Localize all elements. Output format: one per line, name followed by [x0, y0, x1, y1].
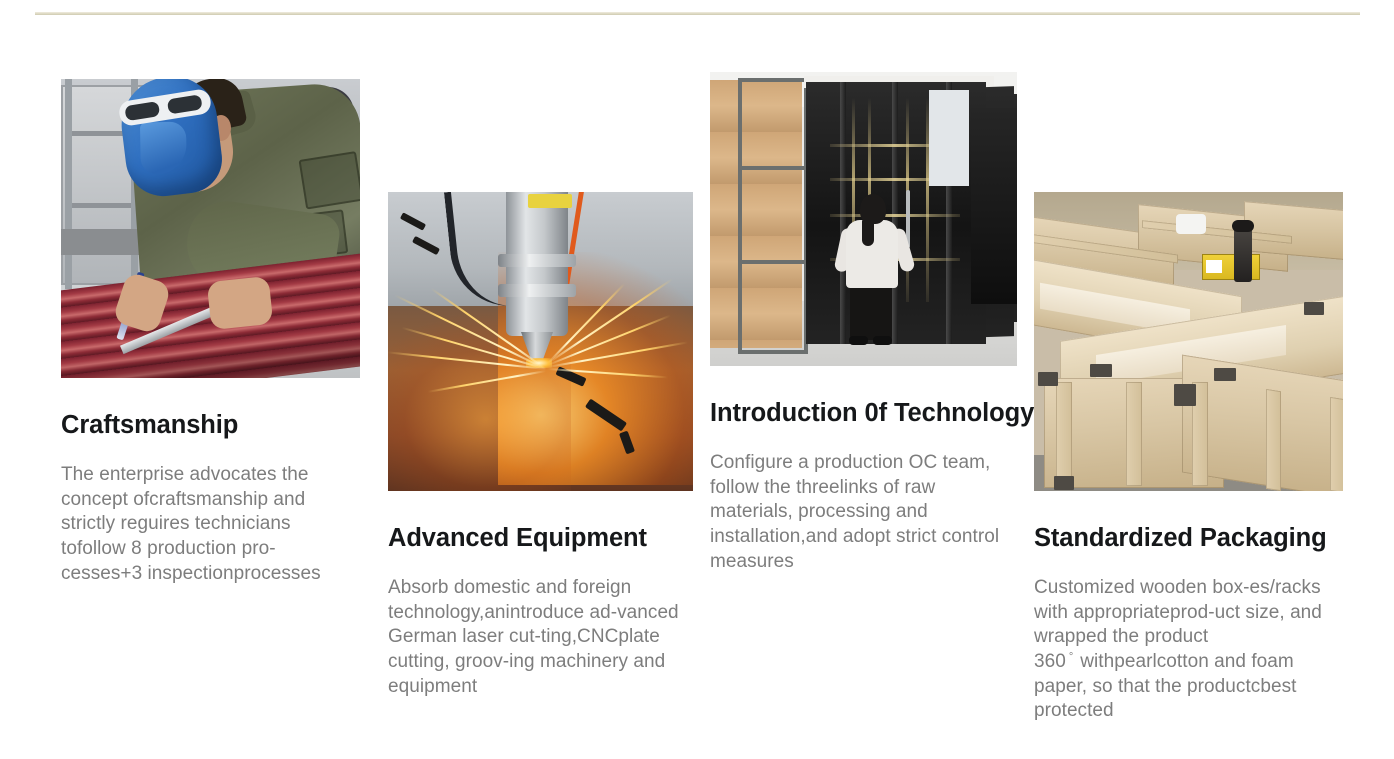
dark-display-cabinet [971, 108, 1017, 304]
feature-card-introduction-of-technology: Introduction 0f Technology Configure a p… [710, 72, 1018, 574]
tool-case-label [1206, 260, 1222, 273]
yellow-warning-label [528, 194, 572, 208]
crate-slat [1266, 389, 1281, 491]
worker-hand-right [207, 276, 274, 330]
hand-tool [1234, 226, 1252, 282]
standardized-packaging-photo [1034, 192, 1343, 491]
crate-slat [1330, 397, 1343, 491]
visitor-shoe-left [849, 336, 868, 345]
visitor-head [860, 194, 886, 224]
feature-card-advanced-equipment: Advanced Equipment Absorb domestic and f… [388, 192, 694, 699]
display-shelf [830, 214, 960, 217]
feature-card-standardized-packaging: Standardized Packaging Customized wooden… [1034, 192, 1344, 724]
feature-body-craftsmanship: The enterprise advocates the concept ofc… [61, 463, 351, 586]
corner-bracket [1174, 384, 1196, 406]
jacket-pocket-upper [299, 151, 360, 209]
laser-head-ring-upper [498, 254, 576, 267]
mask-nose-facet [140, 122, 187, 175]
crate-back [1244, 201, 1343, 261]
corner-bracket [1038, 372, 1058, 386]
feature-title-craftsmanship: Craftsmanship [61, 411, 361, 439]
white-wrapped-bundle [1176, 214, 1206, 234]
feature-body-advanced-equipment: Absorb domestic and foreign technology,a… [388, 576, 688, 699]
hand-tool-knob [1232, 220, 1254, 232]
corner-bracket [1090, 364, 1112, 377]
feature-title-standardized-packaging: Standardized Packaging [1034, 524, 1344, 552]
feature-body-standardized-packaging: Customized wooden box-es/racks with appr… [1034, 576, 1344, 724]
introduction-of-technology-photo [710, 72, 1017, 366]
feature-body-introduction-of-technology: Configure a production OC team, follow t… [710, 451, 1010, 574]
rack-post-left [65, 79, 72, 289]
visitor-trousers [850, 282, 892, 340]
corner-bracket [1304, 302, 1324, 315]
visitor-shoe-right [873, 336, 892, 345]
corner-bracket [1214, 368, 1236, 381]
corner-bracket [1054, 476, 1074, 490]
door-mullion [840, 82, 846, 344]
degree-symbol: ° [1066, 651, 1080, 663]
sheet-shadow [61, 324, 360, 378]
header-divider [35, 12, 1360, 15]
laser-head-ring-lower [498, 284, 576, 297]
advanced-equipment-photo [388, 192, 693, 491]
feature-title-advanced-equipment: Advanced Equipment [388, 524, 694, 552]
craftsmanship-photo [61, 79, 360, 378]
crate-slat [1056, 382, 1072, 486]
wall-panel [929, 90, 969, 186]
feature-card-craftsmanship: Craftsmanship The enterprise advocates t… [61, 79, 361, 586]
crate-metal-frame [738, 78, 808, 354]
door-mullion [892, 82, 898, 344]
crate-slat [1126, 382, 1142, 486]
feature-title-introduction-of-technology: Introduction 0f Technology [710, 399, 1018, 427]
